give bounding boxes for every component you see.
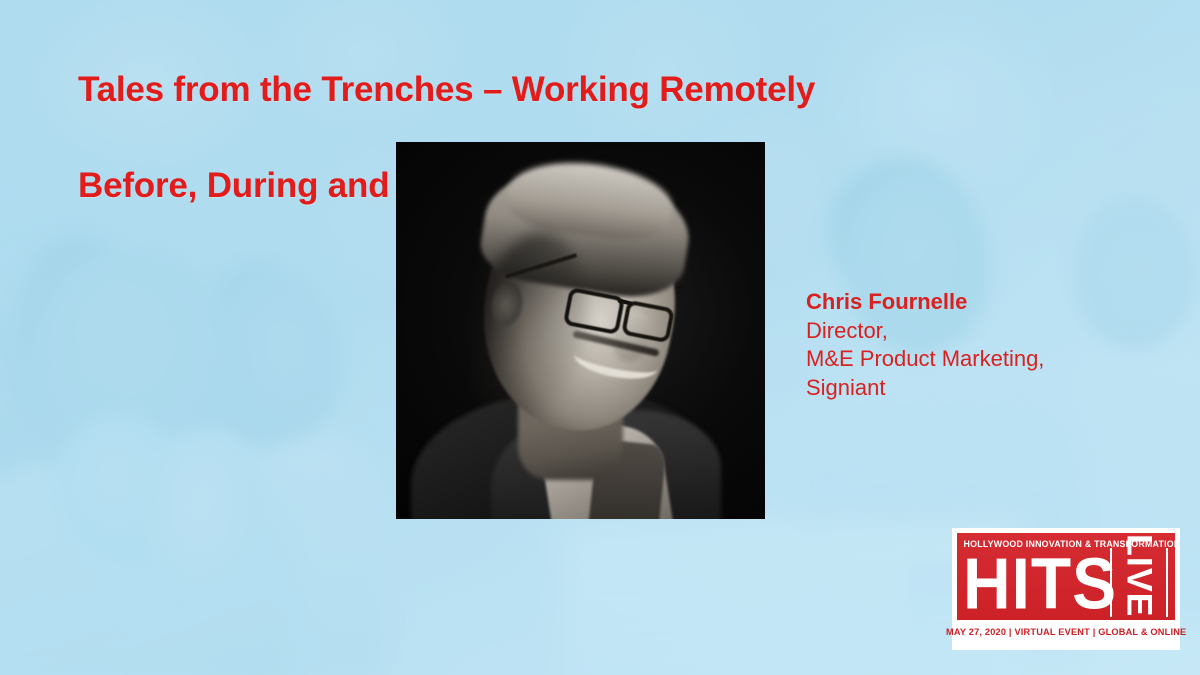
logo-wordmark: HITS	[963, 550, 1117, 620]
logo-footer-bar: MAY 27, 2020 | VIRTUAL EVENT | GLOBAL & …	[957, 620, 1175, 644]
logo-live-badge: LIVE!	[1110, 548, 1168, 617]
logo-live-text: LIVE!	[1122, 534, 1157, 620]
speaker-details: Chris Fournelle Director, M&E Product Ma…	[806, 288, 1136, 402]
presentation-slide: Tales from the Trenches – Working Remote…	[0, 0, 1200, 675]
speaker-name: Chris Fournelle	[806, 288, 1136, 317]
speaker-portrait-image	[396, 142, 765, 519]
speaker-portrait	[396, 142, 765, 519]
hits-live-logo: HOLLYWOOD INNOVATION & TRANSFORMATION SU…	[952, 528, 1180, 650]
logo-event-details: MAY 27, 2020 | VIRTUAL EVENT | GLOBAL & …	[946, 627, 1186, 638]
logo-red-panel: HOLLYWOOD INNOVATION & TRANSFORMATION SU…	[957, 533, 1175, 620]
logo-wordmark-row: HITS LIVE!	[963, 550, 1169, 619]
slide-title-line-1: Tales from the Trenches – Working Remote…	[78, 66, 1108, 114]
speaker-role-line-1: Director,	[806, 317, 1136, 346]
speaker-role-line-2: M&E Product Marketing,	[806, 345, 1136, 374]
speaker-company: Signiant	[806, 374, 1136, 403]
